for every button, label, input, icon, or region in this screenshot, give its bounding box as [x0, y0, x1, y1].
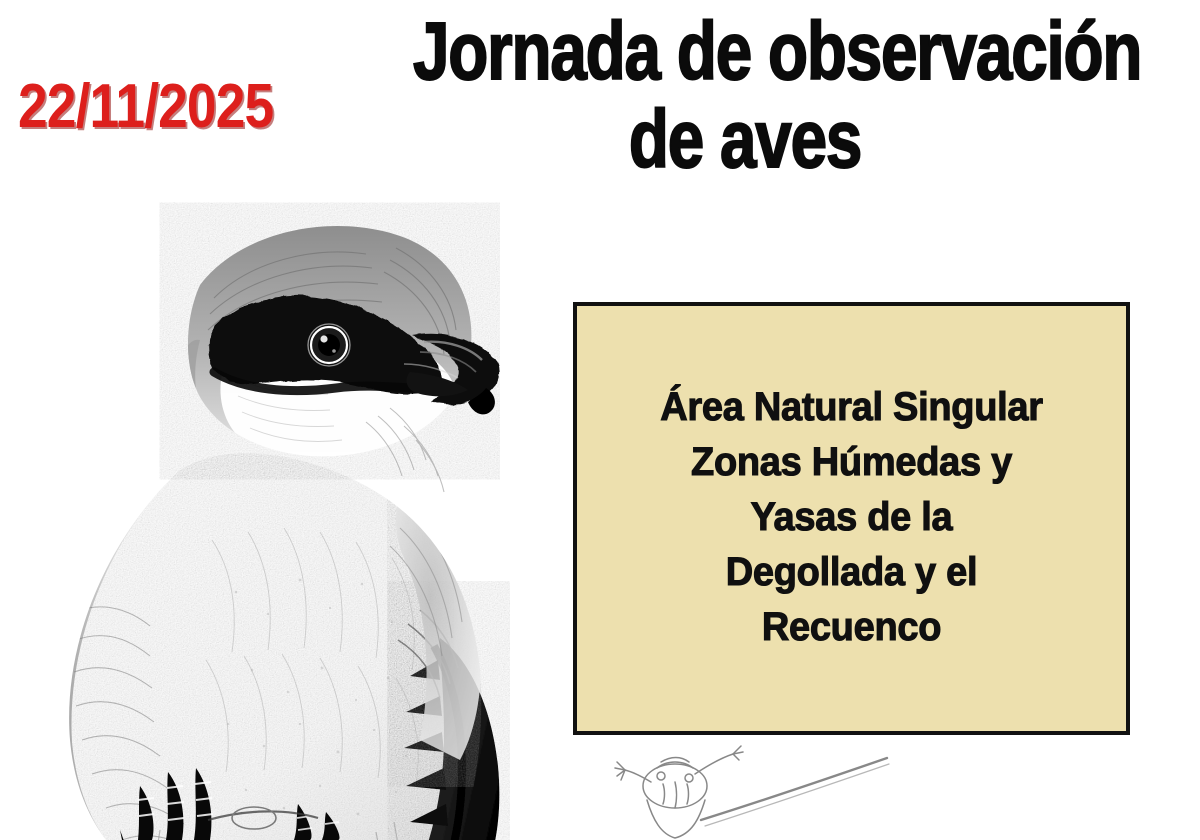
poster-canvas: 22/11/2025 Jornada de observación de ave…	[0, 0, 1200, 840]
info-line-4: Degollada y el	[591, 545, 1113, 600]
event-date: 22/11/2025	[18, 72, 245, 142]
info-line-1: Área Natural Singular	[591, 380, 1113, 435]
shrike-bird-illustration	[0, 140, 530, 840]
title-line-1: Jornada de observación	[413, 8, 1077, 96]
location-info-box: Área Natural Singular Zonas Húmedas y Ya…	[573, 302, 1130, 735]
info-line-5: Recuenco	[591, 600, 1113, 655]
location-info-text: Área Natural Singular Zonas Húmedas y Ya…	[577, 380, 1126, 655]
small-creature-sketch	[575, 742, 975, 840]
info-line-2: Zonas Húmedas y	[591, 435, 1113, 490]
info-line-3: Yasas de la	[591, 490, 1113, 545]
